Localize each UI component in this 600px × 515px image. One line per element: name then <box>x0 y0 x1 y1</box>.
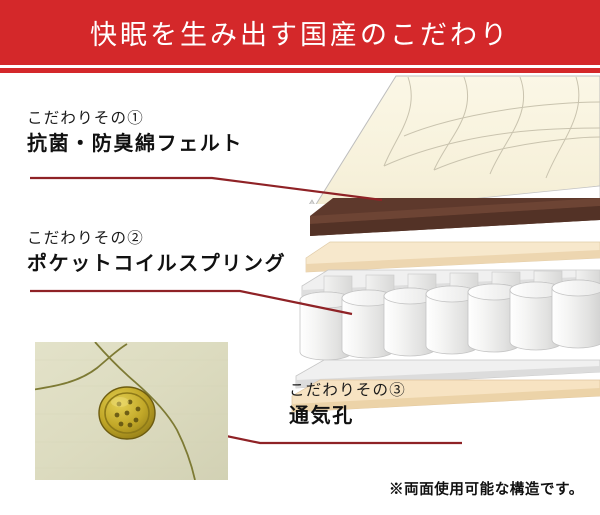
feature-1-name: 抗菌・防臭綿フェルト <box>27 131 243 156</box>
mattress-cutaway-diagram <box>288 74 600 364</box>
page-title: 快眠を生み出す国産のこだわり <box>0 0 600 65</box>
feature-label-2: こだわりその② ポケットコイルスプリング <box>27 230 286 276</box>
feature-1-index: こだわりその① <box>27 110 243 127</box>
feature-label-3: こだわりその③ 通気孔 <box>289 382 406 428</box>
grommet-icon <box>99 387 155 439</box>
feature-2-name: ポケットコイルスプリング <box>27 251 286 276</box>
header-banner: 快眠を生み出す国産のこだわり <box>0 0 600 65</box>
ventilation-hole-photo-image <box>35 342 228 480</box>
layer-quilted-top-cover <box>288 74 600 204</box>
feature-3-name: 通気孔 <box>289 403 406 428</box>
feature-3-index: こだわりその③ <box>289 382 406 399</box>
footer-note: ※両面使用可能な構造です。 <box>389 478 584 499</box>
feature-label-1: こだわりその① 抗菌・防臭綿フェルト <box>27 110 243 156</box>
infographic-root: 快眠を生み出す国産のこだわり <box>0 0 600 515</box>
ventilation-hole-photo <box>35 342 228 480</box>
feature-2-index: こだわりその② <box>27 230 286 247</box>
header-accent-rule <box>0 68 600 73</box>
